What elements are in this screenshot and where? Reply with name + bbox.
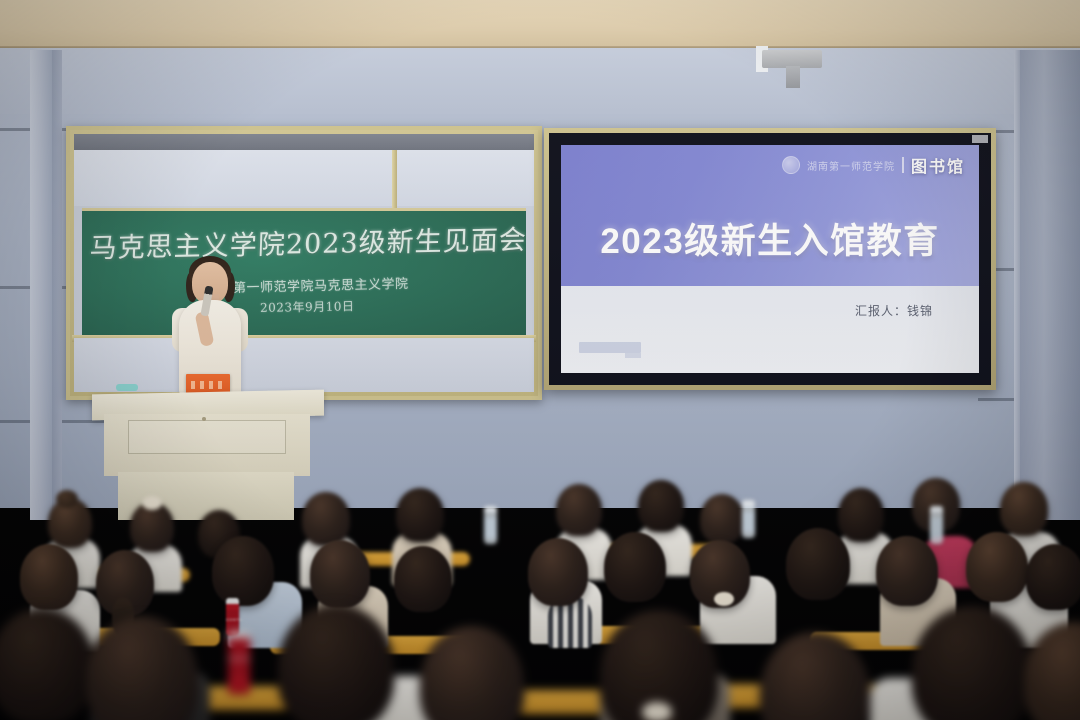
lecture-hall-photo: 马克思主义学院2023级新生见面会 湖南第一师范学院马克思主义学院 2023年9… xyxy=(0,0,1080,720)
podium-marker-tray xyxy=(116,384,138,391)
bottle-label: COSTA xyxy=(228,644,250,676)
slide-title: 2023级新生入馆教育 xyxy=(561,213,979,264)
slide-lower-panel xyxy=(561,286,979,373)
board-lower-panel xyxy=(74,338,534,392)
audience-head xyxy=(1024,622,1080,720)
audience-head xyxy=(760,632,870,720)
university-emblem-icon xyxy=(782,156,800,174)
ceiling xyxy=(0,0,1080,48)
logo-divider-icon xyxy=(902,157,904,173)
screen-bezel: 湖南第一师范学院 图书馆 2023级新生入馆教育 汇报人：钱锦 xyxy=(549,133,991,385)
audience-head xyxy=(0,608,94,720)
projector-stem xyxy=(786,66,800,88)
projection-screen: 湖南第一师范学院 图书馆 2023级新生入馆教育 汇报人：钱锦 xyxy=(544,128,996,390)
audience-head xyxy=(912,606,1032,720)
audience-head xyxy=(86,616,198,720)
wall-upper-band xyxy=(0,48,1080,114)
slide-institution-name: 湖南第一师范学院 xyxy=(807,158,895,173)
slide-footer-chip xyxy=(579,342,641,353)
screen-corner-sticker xyxy=(972,135,988,143)
beverage-bottle: COSTA xyxy=(228,632,250,694)
slide-header-logo: 湖南第一师范学院 图书馆 xyxy=(782,153,965,177)
slide-department-name: 图书馆 xyxy=(911,153,965,177)
slide-presenter-label: 汇报人：钱锦 xyxy=(855,302,933,319)
audience-row-near: COSTA xyxy=(0,440,1080,720)
blackboard: 马克思主义学院2023级新生见面会 湖南第一师范学院马克思主义学院 2023年9… xyxy=(66,126,542,400)
podium-knob xyxy=(202,417,206,421)
hair-scrunchie xyxy=(642,702,672,720)
blackboard-inner: 马克思主义学院2023级新生见面会 湖南第一师范学院马克思主义学院 2023年9… xyxy=(74,134,534,392)
presentation-slide: 湖南第一师范学院 图书馆 2023级新生入馆教育 汇报人：钱锦 xyxy=(561,145,979,373)
blackboard-top-rail xyxy=(74,134,534,150)
audience-head xyxy=(420,626,524,720)
whiteboard-panel xyxy=(74,150,534,206)
audience-area: COSTA COSTA xyxy=(0,440,1080,720)
audience-head xyxy=(278,604,394,720)
